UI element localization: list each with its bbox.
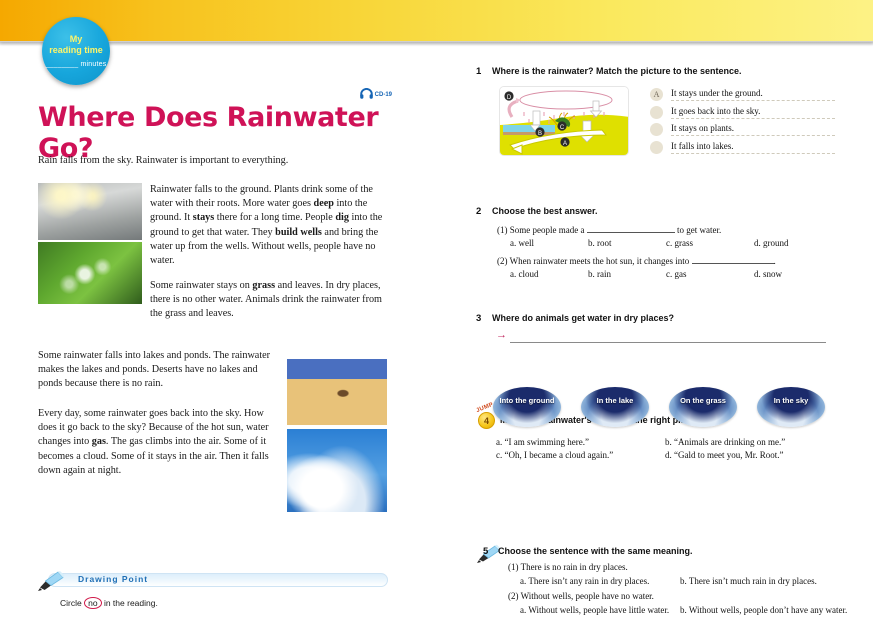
prompt-text: (2) When rainwater meets the hot sun, it… (497, 256, 689, 266)
cd-track-label: CD-19 (375, 92, 392, 99)
circled-word: no (84, 597, 101, 609)
option-row[interactable]: It falls into lakes. (650, 139, 835, 157)
drawing-point-instruction: Circle no in the reading. (60, 597, 158, 609)
audio-track-tag: CD-19 (360, 88, 392, 99)
prompt-suffix: . (774, 256, 776, 266)
drop-label: In the lake (597, 396, 634, 405)
instruction-before: Circle (60, 598, 82, 608)
question-4-number: 4 (478, 412, 495, 429)
left-page: CD-19 Where Does Rainwater Go? Rain fall… (0, 46, 440, 618)
water-cycle-illustration: D B C A (500, 87, 629, 156)
body-paragraph-3: Some rainwater falls into lakes and pond… (38, 349, 278, 392)
question-5-item-1-prompt: (1) There is no rain in dry places. (508, 562, 628, 572)
cloud-photo (287, 429, 387, 512)
question-2-item-2-prompt: (2) When rainwater meets the hot sun, it… (497, 255, 776, 266)
question-2-item-1-prompt: (1) Some people made a to get water. (497, 224, 721, 235)
question-5-item-1-choice-b[interactable]: b. There isn’t much rain in dry places. (680, 576, 817, 586)
question-5-item-2-prompt: (2) Without wells, people have no water. (508, 591, 654, 601)
option-label: It falls into lakes. (671, 141, 835, 154)
water-cycle-diagram: D B C A (499, 86, 629, 156)
question-5-number: 5 (483, 546, 488, 557)
svg-text:C: C (560, 125, 565, 131)
question-1-options: A It stays under the ground. It goes bac… (650, 86, 835, 156)
question-4-answer-b[interactable]: b. “Animals are drinking on me.” (665, 437, 785, 447)
drop-label: Into the ground (500, 396, 555, 405)
question-4-answer-a[interactable]: a. “I am swimming here.” (496, 437, 589, 447)
choice-a[interactable]: a. cloud (510, 269, 588, 279)
water-drop-4[interactable]: In the sky (757, 387, 825, 427)
question-1-heading: Where is the rainwater? Match the pictur… (492, 66, 742, 76)
marker-pen-icon (36, 570, 66, 592)
question-5-heading: Choose the sentence with the same meanin… (498, 546, 693, 556)
drawing-point-label: Drawing Point (78, 574, 148, 584)
option-row[interactable]: It stays on plants. (650, 121, 835, 139)
option-label: It goes back into the sky. (671, 106, 835, 119)
body-paragraph-2: Some rainwater stays on grass and leaves… (150, 279, 393, 322)
question-4-answer-c[interactable]: c. “Oh, I became a cloud again.” (496, 450, 613, 460)
option-bubble[interactable] (650, 141, 663, 154)
badge-line-1: My (70, 34, 83, 45)
choice-d[interactable]: d. ground (754, 238, 789, 248)
question-2-item-1-choices: a. well b. root c. grass d. ground (510, 238, 830, 248)
option-bubble[interactable] (650, 123, 663, 136)
question-2-item-2-choices: a. cloud b. rain c. gas d. snow (510, 269, 830, 279)
drop-label: In the sky (774, 396, 809, 405)
svg-text:A: A (563, 141, 567, 147)
rainy-road-photo (38, 183, 142, 240)
headphones-icon (360, 88, 373, 99)
question-5-item-1-choice-a[interactable]: a. There isn’t any rain in dry places. (520, 576, 649, 586)
textbook-spread: My reading time ________ minutes CD-19 W… (0, 0, 873, 618)
question-3-heading: Where do animals get water in dry places… (492, 313, 674, 323)
choice-b[interactable]: b. root (588, 238, 666, 248)
option-row[interactable]: It goes back into the sky. (650, 104, 835, 122)
answer-arrow-icon: → (496, 329, 507, 341)
choice-d[interactable]: d. snow (754, 269, 782, 279)
dew-grass-photo (38, 242, 142, 304)
question-2-heading: Choose the best answer. (492, 206, 598, 216)
body-paragraph-4: Every day, some rainwater goes back into… (38, 407, 278, 478)
question-5-item-2-choice-a[interactable]: a. Without wells, people have little wat… (520, 605, 669, 615)
question-3-answer-line[interactable] (510, 342, 826, 343)
prompt-text: (1) Some people made a (497, 225, 584, 235)
right-page: 1 Where is the rainwater? Match the pict… (440, 46, 873, 618)
instruction-after: in the reading. (104, 598, 158, 608)
lead-paragraph: Rain falls from the sky. Rainwater is im… (38, 154, 393, 168)
question-4-answer-d[interactable]: d. “Gald to meet you, Mr. Root.” (665, 450, 783, 460)
water-drop-1[interactable]: Into the ground (493, 387, 561, 427)
water-drop-3[interactable]: On the grass (669, 387, 737, 427)
option-row[interactable]: A It stays under the ground. (650, 86, 835, 104)
prompt-suffix: to get water. (677, 225, 721, 235)
top-banner (0, 0, 873, 42)
choice-c[interactable]: c. gas (666, 269, 754, 279)
desert-photo (287, 359, 387, 425)
answer-blank[interactable] (692, 255, 774, 264)
option-label: It stays on plants. (671, 123, 835, 136)
option-bubble[interactable]: A (650, 88, 663, 101)
choice-a[interactable]: a. well (510, 238, 588, 248)
water-drop-2[interactable]: In the lake (581, 387, 649, 427)
option-bubble[interactable] (650, 106, 663, 119)
svg-text:D: D (507, 95, 512, 101)
choice-c[interactable]: c. grass (666, 238, 754, 248)
drop-label: On the grass (680, 396, 726, 405)
question-5-item-2-choice-b[interactable]: b. Without wells, people don’t have any … (680, 605, 847, 615)
question-2-number: 2 (476, 206, 481, 217)
question-1-number: 1 (476, 66, 481, 77)
body-paragraph-1: Rainwater falls to the ground. Plants dr… (150, 183, 393, 268)
answer-blank[interactable] (587, 224, 675, 233)
choice-b[interactable]: b. rain (588, 269, 666, 279)
option-label: It stays under the ground. (671, 88, 835, 101)
svg-text:B: B (538, 131, 542, 137)
question-3-number: 3 (476, 313, 481, 324)
